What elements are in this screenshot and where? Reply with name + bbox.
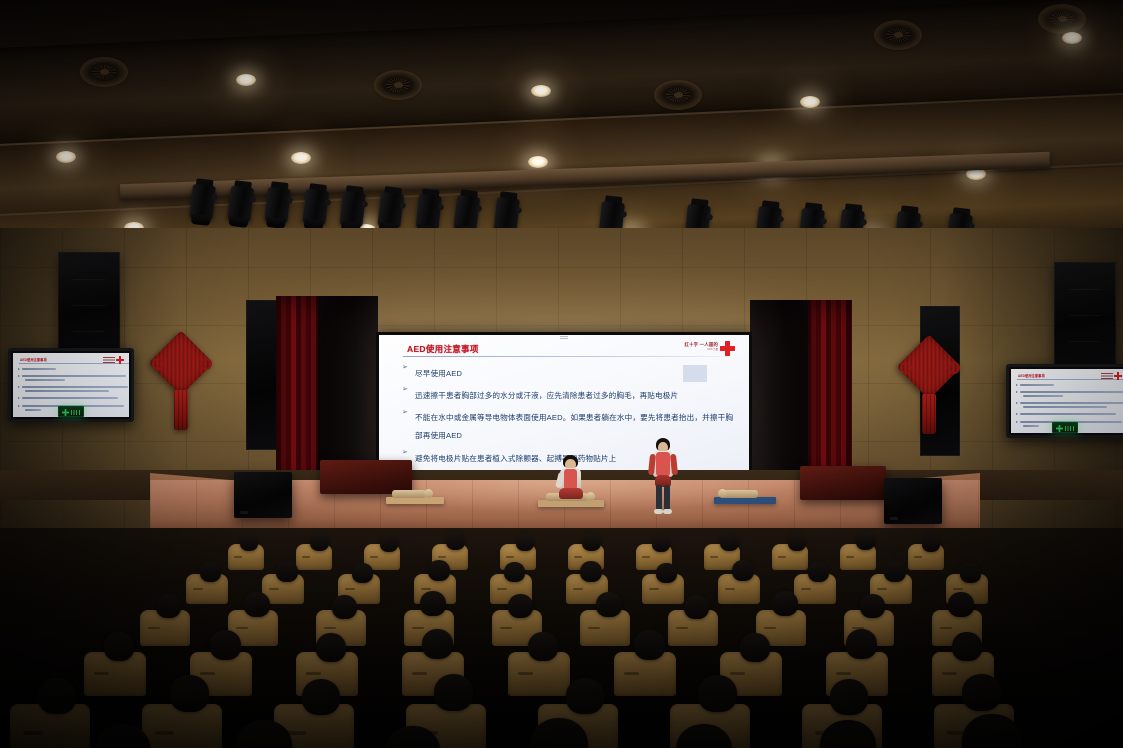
ceiling-downlight — [531, 85, 551, 97]
audience-head — [504, 562, 525, 582]
right-monitor-title: AED使用注意事项 — [1018, 373, 1045, 378]
bullet-arrow-icon: ➢ — [402, 450, 409, 456]
cpr-manikin-left — [392, 490, 426, 498]
cpr-manikin-head-left — [424, 489, 433, 498]
audience-head — [156, 594, 181, 618]
presenter-shoe-right — [663, 509, 672, 514]
audience-head — [952, 632, 982, 661]
bullet-arrow-icon: ➢ — [402, 387, 409, 393]
audience-head — [634, 630, 665, 660]
red-cross-icon — [1100, 372, 1122, 380]
audience-head — [698, 675, 737, 712]
kneeling-demonstrator — [556, 455, 586, 503]
audience-head — [316, 633, 346, 662]
wall-speaker-right — [1054, 262, 1116, 370]
audience-head — [656, 563, 677, 583]
stage-table-left — [320, 460, 412, 494]
training-mat-left — [386, 497, 444, 504]
training-mat-right — [714, 497, 776, 504]
presenter-leg-right — [664, 485, 670, 511]
cpr-manikin-right — [722, 490, 758, 498]
audience-head — [244, 592, 270, 617]
audience-head — [860, 594, 885, 618]
audience-head — [508, 594, 533, 618]
ceiling-downlight — [236, 74, 256, 86]
red-cross-icon — [102, 356, 124, 364]
auditorium-scene: AED使用注意事项 AED使用注意事项 — [0, 0, 1123, 748]
ceiling-vent-icon — [656, 82, 700, 108]
bullet-arrow-icon: ➢ — [402, 410, 409, 416]
presenter-leg-left — [656, 485, 662, 511]
audience-head — [960, 563, 981, 583]
audience-head — [420, 591, 446, 616]
exit-sign-right — [1052, 422, 1078, 433]
audience-head — [516, 534, 534, 551]
audience-head — [528, 632, 558, 661]
ceiling-vent-icon — [1040, 6, 1084, 32]
audience-head — [732, 560, 754, 581]
audience-head — [38, 678, 76, 714]
ceiling-vent-icon — [876, 22, 920, 48]
audience-head — [446, 532, 465, 550]
audience-head — [772, 591, 798, 616]
presenter-arm-right — [670, 454, 678, 476]
slide-bullet-item: ➢ 不能在水中或金属等导电物体表面使用AED。如果患者躺在水中，要先将患者抬出，… — [401, 407, 735, 443]
audience-head — [428, 560, 450, 581]
stage-curtain-left — [276, 296, 320, 496]
audience-head — [582, 533, 601, 551]
audience-head — [922, 535, 940, 552]
audience-head — [566, 678, 604, 714]
audience-head — [200, 562, 221, 582]
bullet-text: 不能在水中或金属等导电物体表面使用AED。如果患者躺在水中，要先将患者抬出，并擦… — [415, 413, 733, 440]
audience-head — [580, 561, 602, 582]
audience-seating-area — [0, 528, 1123, 748]
audience-head — [856, 532, 875, 550]
ceiling-downlight — [800, 96, 820, 108]
audience-head — [830, 679, 868, 715]
demonstrator-red-vest — [564, 469, 577, 490]
audience-head — [962, 674, 1001, 711]
slide-top-marker — [560, 335, 568, 339]
cpr-manikin-head-center — [586, 492, 595, 501]
audience-head — [170, 675, 209, 712]
ceiling-downlight — [1062, 32, 1082, 44]
bullet-text: 尽早使用AED — [415, 369, 462, 378]
chinese-knot-icon-right — [902, 336, 958, 440]
audience-head — [380, 535, 398, 552]
audience-head — [740, 633, 770, 662]
ceiling-downlight — [528, 156, 548, 168]
audience-head — [210, 630, 241, 660]
slide-title: AED使用注意事项 — [407, 343, 479, 355]
bullet-text: 避免将电极片贴在患者植入式除颤器、起搏器和药物贴片上 — [415, 454, 616, 463]
ceiling-downlight — [56, 151, 76, 163]
slide-title-underline — [403, 356, 729, 357]
chinese-knot-icon-left — [154, 332, 210, 436]
audience-head — [884, 561, 906, 582]
ceiling-vent-icon — [376, 72, 420, 98]
audience-head — [948, 592, 974, 617]
slide-bullet-item: ➢ 迅速擦干患者胸部过多的水分或汗液，应先清除患者过多的胸毛，再贴电极片 — [401, 385, 735, 403]
wall-speaker-left — [58, 252, 120, 360]
audience-head — [808, 562, 829, 582]
audience-head — [332, 595, 357, 619]
audience-head — [652, 535, 670, 552]
audience-head — [684, 595, 709, 619]
audience-head — [846, 629, 877, 659]
stage-speaker-cabinet-left — [234, 472, 292, 518]
bullet-text: 迅速擦干患者胸部过多的水分或汗液，应先清除患者过多的胸毛，再贴电极片 — [415, 391, 678, 400]
exit-sign-left — [58, 406, 84, 417]
slide-bullet-item: ➢ 尽早使用AED — [401, 363, 735, 381]
audience-head — [240, 534, 258, 551]
audience-head — [422, 629, 453, 659]
stage-table-right — [800, 466, 886, 500]
stage-speaker-cabinet-right — [884, 478, 942, 524]
logo-pinyin-text: CRC 力量 — [707, 347, 718, 351]
audience-head — [596, 592, 622, 617]
audience-head — [302, 679, 340, 715]
audience-head — [352, 563, 373, 583]
left-monitor-title: AED使用注意事项 — [20, 357, 47, 362]
standing-presenter — [648, 438, 678, 516]
red-cross-logo: 红十字 一人道的 CRC 力量 — [661, 340, 735, 356]
audience-head — [104, 632, 134, 661]
audience-head — [310, 533, 329, 551]
presenter-red-vest — [656, 452, 670, 476]
bullet-arrow-icon: ➢ — [402, 365, 409, 371]
demonstrator-legs — [559, 488, 583, 499]
cpr-manikin-head-right — [718, 489, 727, 498]
audience-head — [788, 534, 806, 551]
audience-head — [720, 533, 739, 551]
ceiling-downlight — [291, 152, 311, 164]
red-cross-icon — [720, 341, 735, 356]
audience-head — [434, 674, 473, 711]
presenter-shoe-left — [654, 509, 663, 514]
ceiling-vent-icon — [82, 59, 126, 85]
audience-head — [276, 561, 298, 582]
